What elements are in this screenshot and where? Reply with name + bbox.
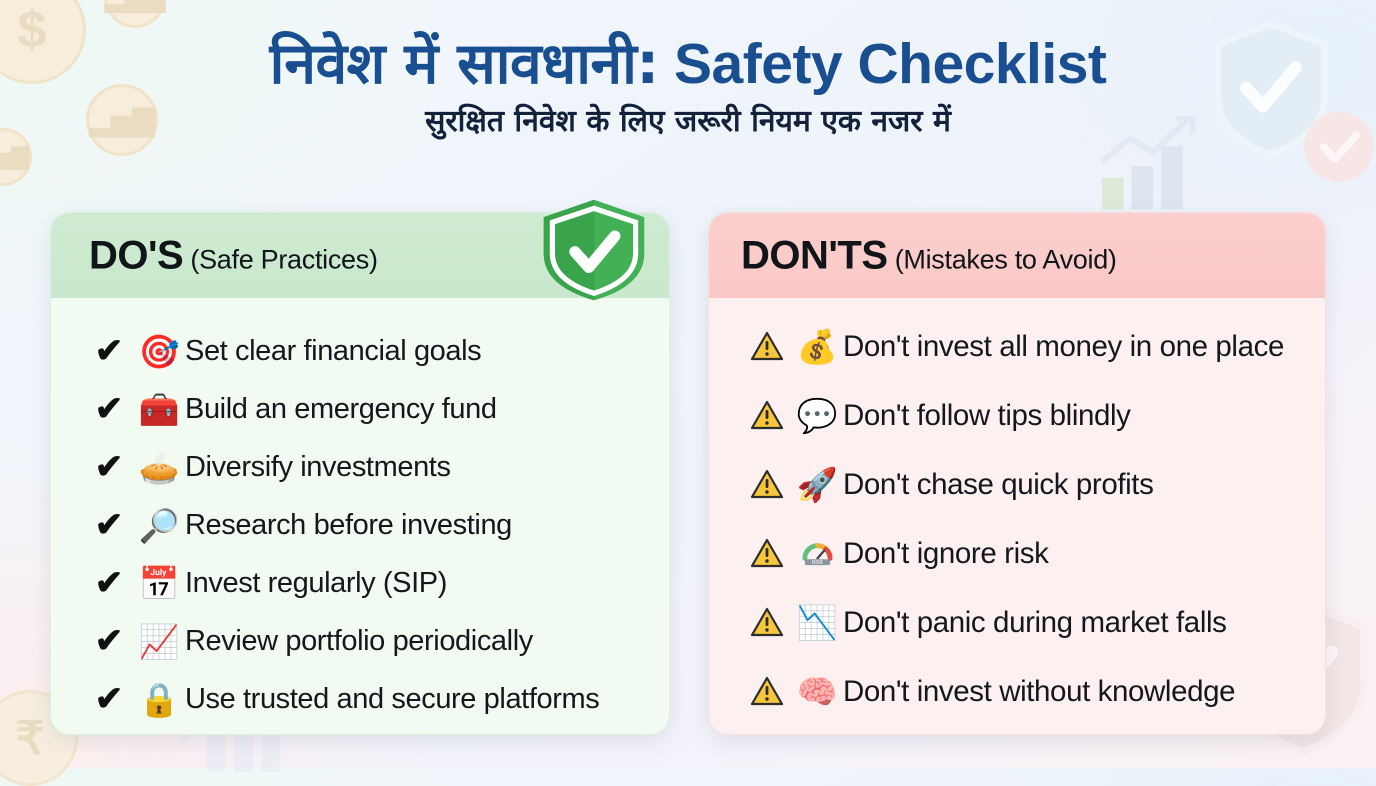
first-aid-money-icon: 🧰 — [133, 393, 185, 426]
list-item-label: Don't invest without knowledge — [843, 675, 1235, 709]
page-title-english: Safety Checklist — [659, 32, 1107, 96]
list-item[interactable]: ✔ 🥧 Diversify investments — [51, 438, 669, 496]
donts-card: DON'TS (Mistakes to Avoid) 💰 Don't inves… — [708, 212, 1326, 735]
warning-triangle-icon — [743, 538, 791, 569]
list-item[interactable]: ✔ 🔒 Use trusted and secure platforms — [51, 670, 669, 728]
portfolio-review-icon: 📈 — [133, 625, 185, 658]
checkmark-icon: ✔ — [85, 508, 133, 542]
list-item[interactable]: 💬 Don't follow tips blindly — [709, 381, 1325, 450]
list-item-label: Invest regularly (SIP) — [185, 567, 447, 600]
list-item-label: Diversify investments — [185, 451, 451, 484]
pie-chart-icon: 🥧 — [133, 451, 185, 484]
warning-triangle-icon — [743, 607, 791, 638]
list-item-label: Build an emergency fund — [185, 393, 497, 426]
warning-triangle-icon — [743, 469, 791, 500]
page-title-hindi: निवेश में सावधानी: — [270, 31, 659, 97]
brain-knowledge-icon: 🧠 — [791, 675, 843, 708]
list-item[interactable]: ✔ 📅 Invest regularly (SIP) — [51, 554, 669, 612]
donts-card-header: DON'TS (Mistakes to Avoid) — [709, 213, 1325, 298]
checkmark-icon: ✔ — [85, 334, 133, 368]
dos-heading: DO'S (Safe Practices) — [89, 233, 378, 278]
dos-list: ✔ 🎯 Set clear financial goals ✔ 🧰 Build … — [51, 298, 669, 728]
dos-card: DO'S (Safe Practices) ✔ 🎯 Set clear fina… — [50, 212, 670, 735]
donts-heading: DON'TS (Mistakes to Avoid) — [741, 233, 1117, 278]
checkmark-icon: ✔ — [85, 566, 133, 600]
list-item[interactable]: ✔ 📈 Review portfolio periodically — [51, 612, 669, 670]
falling-chart-icon: 📉 — [791, 606, 843, 639]
checkmark-icon: ✔ — [85, 450, 133, 484]
list-item-label: Don't chase quick profits — [843, 468, 1153, 502]
chat-tips-icon: 💬 — [791, 399, 843, 432]
list-item-label: Don't follow tips blindly — [843, 399, 1131, 433]
list-item-label: Research before investing — [185, 509, 512, 542]
shield-check-icon — [538, 198, 650, 302]
page-header: निवेश में सावधानी: Safety Checklist सुरक… — [0, 0, 1376, 139]
warning-triangle-icon — [743, 400, 791, 431]
list-item[interactable]: 🧠 Don't invest without knowledge — [709, 657, 1325, 726]
checkmark-icon: ✔ — [85, 624, 133, 658]
list-item[interactable]: 💰 Don't invest all money in one place — [709, 312, 1325, 381]
dos-heading-main: DO'S — [89, 233, 183, 277]
magnifier-chart-icon: 🔎 — [133, 509, 185, 542]
list-item-label: Use trusted and secure platforms — [185, 683, 599, 716]
target-dart-icon: 🎯 — [133, 335, 185, 368]
list-item[interactable]: ✔ 🔎 Research before investing — [51, 496, 669, 554]
list-item[interactable]: 🚀 Don't chase quick profits — [709, 450, 1325, 519]
dos-heading-sub: (Safe Practices) — [183, 244, 377, 274]
list-item[interactable]: ✔ 🎯 Set clear financial goals — [51, 322, 669, 380]
donts-heading-sub: (Mistakes to Avoid) — [888, 244, 1117, 274]
list-item[interactable]: 📉 Don't panic during market falls — [709, 588, 1325, 657]
list-item[interactable]: ✔ 🧰 Build an emergency fund — [51, 380, 669, 438]
rocket-icon: 🚀 — [791, 468, 843, 501]
list-item-label: Don't invest all money in one place — [843, 330, 1284, 364]
list-item-label: Don't panic during market falls — [843, 606, 1226, 640]
warning-triangle-icon — [743, 676, 791, 707]
list-item-label: Review portfolio periodically — [185, 625, 533, 658]
warning-triangle-icon — [743, 331, 791, 362]
donts-list: 💰 Don't invest all money in one place 💬 … — [709, 298, 1325, 726]
calendar-coin-icon: 📅 — [133, 567, 185, 600]
all-eggs-one-basket-icon: 💰 — [791, 330, 843, 363]
donts-heading-main: DON'TS — [741, 233, 888, 277]
list-item[interactable]: RISK Don't ignore risk — [709, 519, 1325, 588]
page-subtitle: सुरक्षित निवेश के लिए जरूरी नियम एक नजर … — [0, 105, 1376, 140]
secure-platform-icon: 🔒 — [133, 683, 185, 716]
checkmark-icon: ✔ — [85, 682, 133, 716]
list-item-label: Don't ignore risk — [843, 537, 1048, 571]
page-title: निवेश में सावधानी: Safety Checklist — [0, 34, 1376, 96]
svg-text:RISK: RISK — [811, 560, 823, 566]
list-item-label: Set clear financial goals — [185, 335, 481, 368]
risk-gauge-icon: RISK — [791, 535, 843, 573]
checkmark-icon: ✔ — [85, 392, 133, 426]
